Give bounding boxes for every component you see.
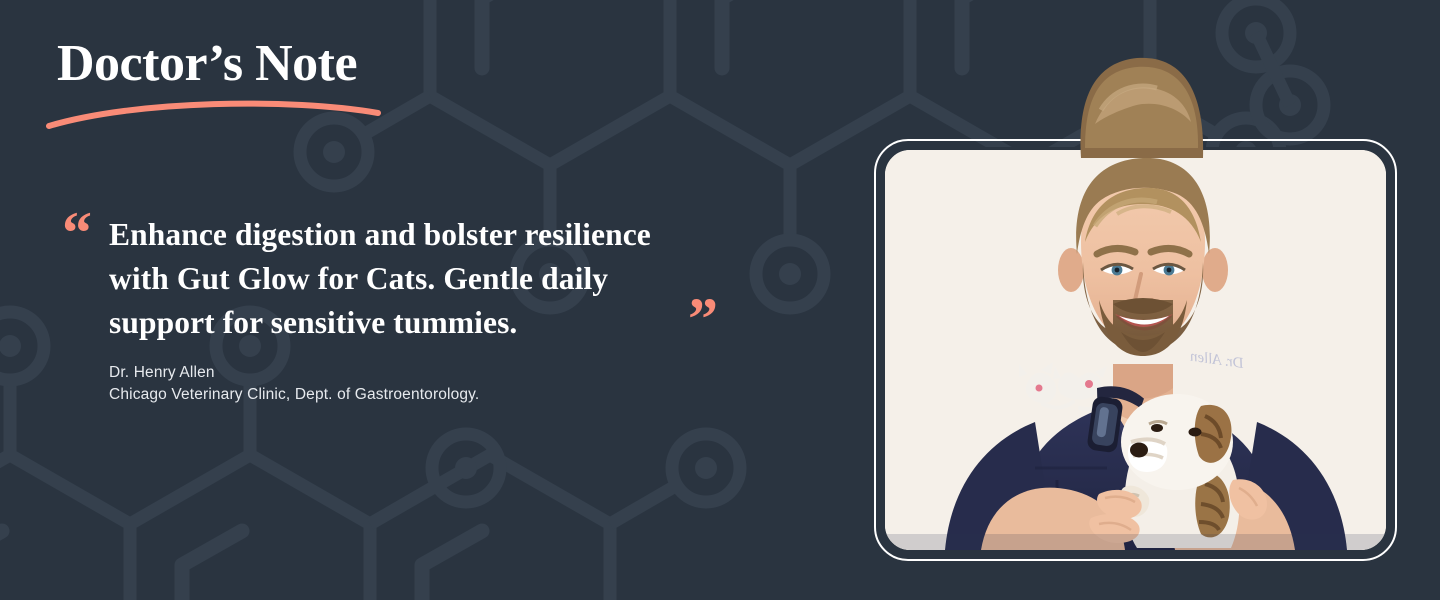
- photo-overflow-top: [885, 48, 1386, 158]
- page-title: Doctor’s Note: [57, 38, 477, 90]
- attribution-name: Dr. Henry Allen: [109, 362, 729, 384]
- attribution-affiliation: Chicago Veterinary Clinic, Dept. of Gast…: [109, 384, 729, 406]
- photo-frame: Dr. Allen: [882, 147, 1389, 553]
- quote-line: support for sensitive tummies.: [109, 301, 729, 345]
- quote-line: with Gut Glow for Cats. Gentle daily: [109, 257, 729, 301]
- quote-close-mark: ”: [688, 289, 716, 349]
- text-column: Doctor’s Note “ Enhance digestion and bo…: [0, 0, 800, 600]
- quote-open-mark: “: [62, 203, 90, 263]
- quote-line: Enhance digestion and bolster resilience: [109, 213, 729, 257]
- title-block: Doctor’s Note: [57, 38, 477, 90]
- quote-text: Enhance digestion and bolster resilience…: [109, 213, 729, 345]
- attribution: Dr. Henry Allen Chicago Veterinary Clini…: [109, 362, 729, 406]
- doctor-photo: Dr. Allen: [885, 150, 1386, 550]
- curved-underline-icon: [46, 94, 381, 130]
- doctors-note-banner: Doctor’s Note “ Enhance digestion and bo…: [0, 0, 1440, 600]
- doctor-photo-card: Dr. Allen: [874, 139, 1397, 561]
